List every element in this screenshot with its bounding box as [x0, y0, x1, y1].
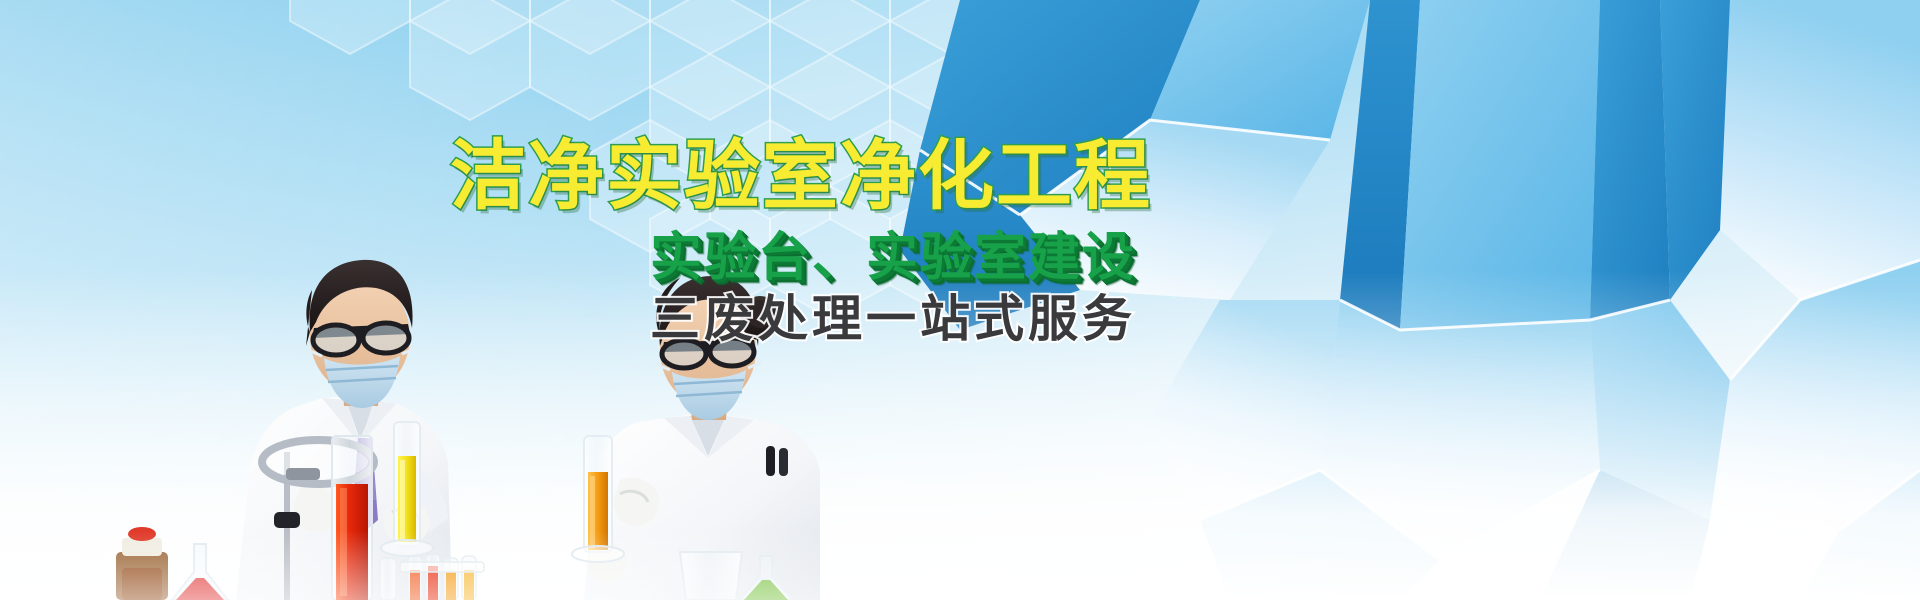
subtitle-green: 实验台、实验室建设 — [450, 230, 1190, 286]
lab-cleanroom-banner: 洁净实验室净化工程 实验台、实验室建设 三废处理一站式服务 — [0, 0, 1920, 600]
banner-copy: 洁净实验室净化工程 实验台、实验室建设 三废处理一站式服务 — [450, 138, 1190, 347]
page-title: 洁净实验室净化工程 — [450, 138, 1190, 216]
subtitle-gray: 三废处理一站式服务 — [450, 292, 1190, 347]
